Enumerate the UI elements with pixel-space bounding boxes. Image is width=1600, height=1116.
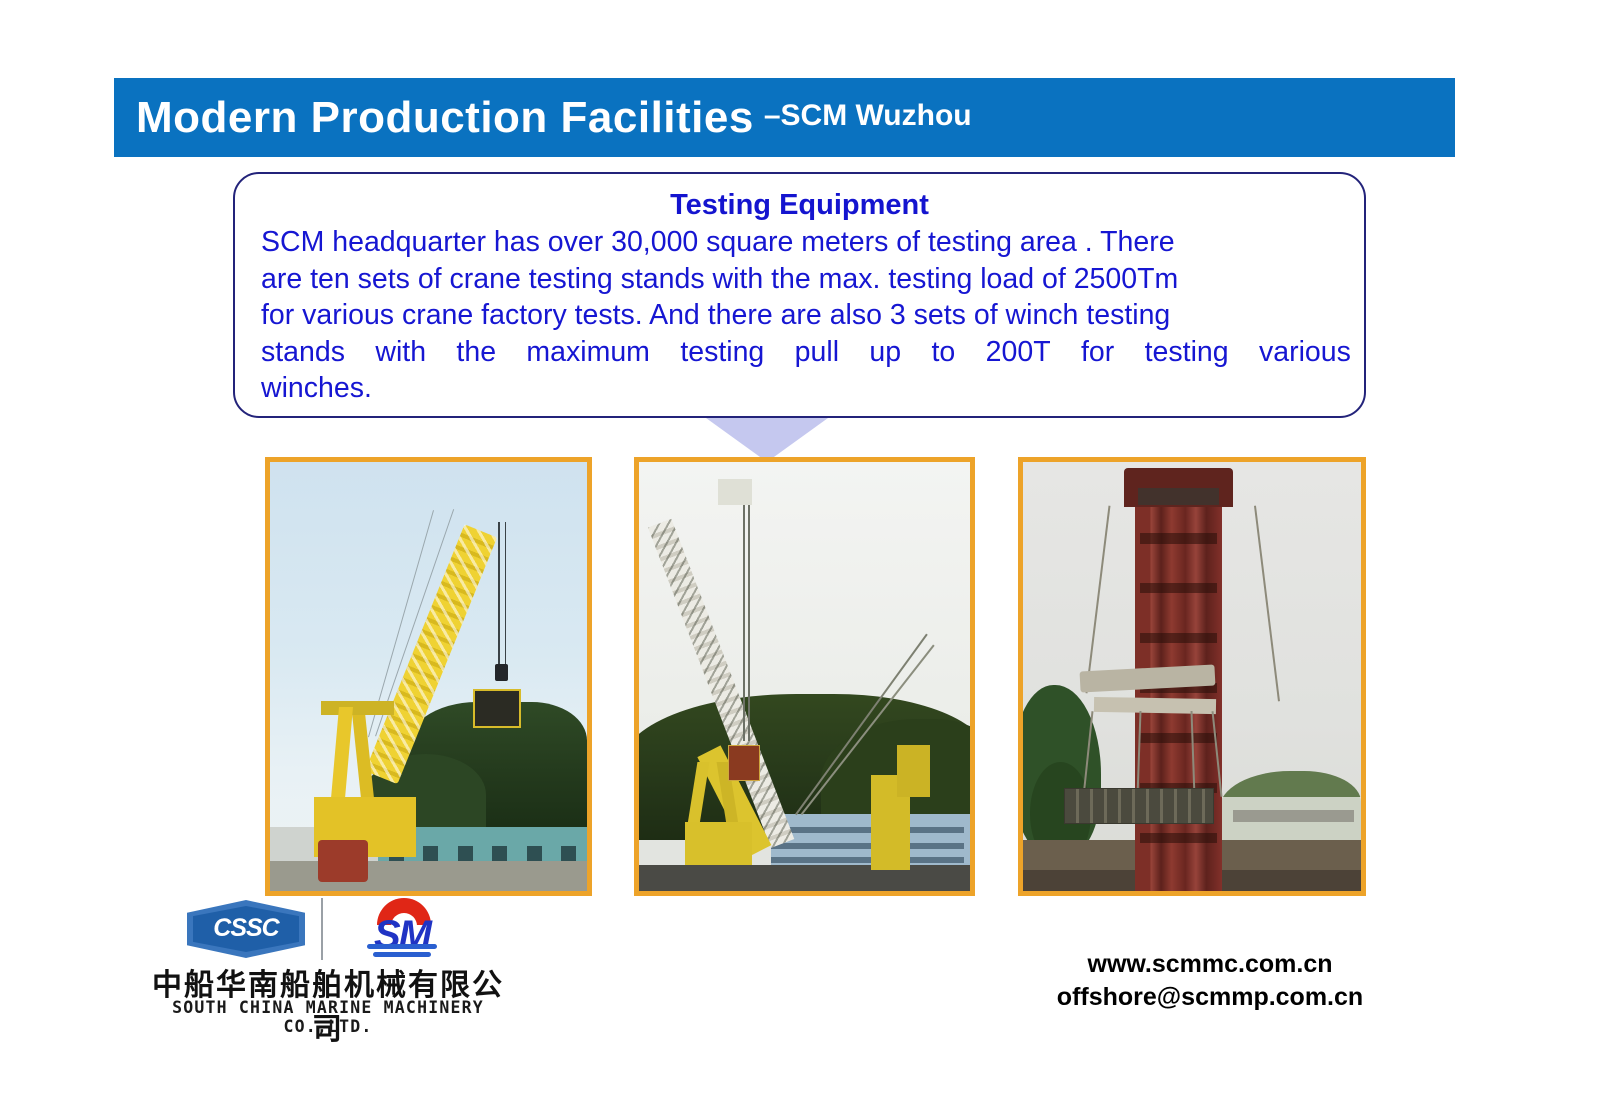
website-url[interactable]: www.scmmc.com.cn	[1000, 948, 1420, 981]
slide-canvas: Modern Production Facilities –SCM Wuzhou…	[0, 0, 1600, 1116]
wave-icon	[373, 952, 431, 957]
callout-line-4-word: with	[375, 334, 426, 371]
cssc-logo-text: CSSC	[187, 914, 305, 943]
callout-pointer-triangle	[706, 418, 828, 462]
callout-line-3: for various crane factory tests. And the…	[261, 297, 1351, 334]
callout-line-4-word: to	[932, 334, 956, 371]
callout-line-4-word: testing	[680, 334, 764, 371]
callout-line-4-word: up	[869, 334, 901, 371]
email-address[interactable]: offshore@scmmp.com.cn	[1000, 981, 1420, 1014]
company-name-en: SOUTH CHINA MARINE MACHINERY CO.,LTD.	[143, 998, 513, 1036]
callout-line-4-word: stands	[261, 334, 345, 371]
page-title: Modern Production Facilities	[136, 96, 754, 140]
contact-block: www.scmmc.com.cn offshore@scmmp.com.cn	[1000, 948, 1420, 1014]
callout-line-4-word: maximum	[526, 334, 650, 371]
callout-heading: Testing Equipment	[235, 191, 1364, 220]
callout-line-4-word: various	[1259, 334, 1351, 371]
callout-line-4-word: 200T	[986, 334, 1051, 371]
slide-title-bar: Modern Production Facilities –SCM Wuzhou	[114, 78, 1455, 157]
callout-line-4-word: pull	[795, 334, 839, 371]
callout-body: SCM headquarter has over 30,000 square m…	[235, 220, 1364, 407]
photo-crane-test-stand-two-cranes	[634, 457, 975, 896]
sm-logo-text: SM	[339, 915, 465, 955]
photo-winch-test-tower-red	[1018, 457, 1366, 896]
cssc-logo-icon: CSSC	[187, 900, 305, 958]
testing-equipment-callout: Testing Equipment SCM headquarter has ov…	[233, 172, 1366, 418]
callout-line-4-word: testing	[1145, 334, 1229, 371]
photo-crane-test-stand-yellow-boom	[265, 457, 592, 896]
callout-line-2: are ten sets of crane testing stands wit…	[261, 261, 1351, 298]
page-subtitle: –SCM Wuzhou	[764, 101, 972, 134]
callout-line-4-word: for	[1081, 334, 1114, 371]
sm-logo-icon: SM	[339, 898, 465, 960]
wave-icon	[367, 944, 437, 949]
callout-line-1: SCM headquarter has over 30,000 square m…	[261, 224, 1351, 261]
callout-line-4: stands with the maximum testing pull up …	[261, 334, 1351, 371]
logo-divider	[321, 898, 323, 960]
callout-line-5: winches.	[261, 370, 1351, 407]
callout-line-4-word: the	[456, 334, 496, 371]
company-logo-block: CSSC SM 中船华南船舶机械有限公司 SOUTH CHINA MARINE …	[143, 898, 513, 1026]
